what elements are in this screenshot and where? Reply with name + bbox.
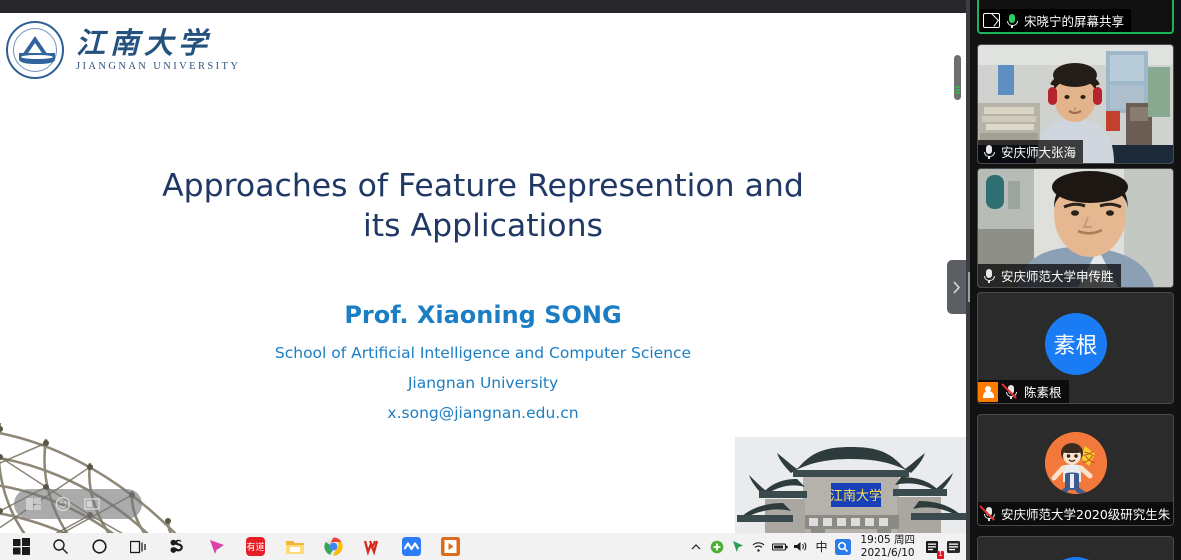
participant-name: 安庆师范大学申传胜: [1001, 266, 1114, 285]
svg-text:中: 中: [816, 539, 828, 554]
tray-green-shield-icon[interactable]: [706, 533, 727, 560]
tray-ime-chinese-icon[interactable]: 中: [811, 533, 832, 560]
taskbar-item-youdao-dict-icon[interactable]: 有道: [236, 533, 275, 560]
participant-tile-video-1[interactable]: 安庆师大张海: [977, 44, 1174, 164]
collapse-panel-chevron-icon[interactable]: [947, 260, 966, 314]
clock-date: 2021/6/10: [861, 547, 915, 560]
screen-root: 江南大学 JIANGNAN UNIVERSITY Approaches of F…: [0, 0, 1181, 560]
presenter-school: School of Artificial Intelligence and Co…: [120, 344, 846, 362]
tray-battery-icon[interactable]: [769, 533, 790, 560]
screen-share-icon: [983, 13, 1000, 28]
taskbar-item-sogou-s-icon[interactable]: [158, 533, 197, 560]
taskbar-item-file-explorer-icon[interactable]: [275, 533, 314, 560]
svg-text:有道: 有道: [246, 541, 264, 553]
tray-blue-search-icon[interactable]: [832, 533, 853, 560]
mic-unmuted-icon: [982, 144, 996, 160]
tray-pointer-icon[interactable]: [727, 533, 748, 560]
tray-chevron-up-icon[interactable]: [685, 533, 706, 560]
taskbar-item-pink-cursor-icon[interactable]: [197, 533, 236, 560]
presenter-university: Jiangnan University: [120, 374, 846, 392]
participant-tile-avatar-2[interactable]: 爻: [977, 414, 1174, 526]
mic-unmuted-icon: [1005, 13, 1019, 29]
participant-name: 宋晓宁的屏幕共享: [1024, 11, 1124, 30]
taskbar-item-tencent-meeting-icon[interactable]: [392, 533, 431, 560]
participant-tile-avatar-1[interactable]: 素根 陈素根: [977, 292, 1174, 404]
presentation-slide: 江南大学 JIANGNAN UNIVERSITY Approaches of F…: [0, 13, 966, 533]
tray-wifi-icon[interactable]: [748, 533, 769, 560]
participants-sidebar[interactable]: 宋晓宁的屏幕共享: [970, 0, 1181, 560]
participant-tile-avatar-3[interactable]: [977, 536, 1174, 560]
taskbar-item-search-icon[interactable]: [41, 533, 80, 560]
participant-name: 安庆师范大学2020级研究生朱: [1001, 504, 1170, 523]
university-logo: 江南大学 JIANGNAN UNIVERSITY: [6, 21, 240, 79]
avatar: [1045, 557, 1107, 560]
participant-name: 安庆师大张海: [1001, 142, 1076, 161]
mic-muted-icon: [982, 506, 996, 522]
annotate-icon[interactable]: [24, 495, 44, 513]
slide-title-line2: its Applications: [120, 206, 846, 246]
shared-screen-area: 江南大学 JIANGNAN UNIVERSITY Approaches of F…: [0, 0, 966, 560]
taskbar-item-cortana-circle-icon[interactable]: [80, 533, 119, 560]
svg-text:江南大学: 江南大学: [830, 488, 882, 504]
avatar-initials: 素根: [1053, 328, 1097, 360]
mic-muted-icon: [1004, 384, 1018, 400]
taskbar-item-powerpoint-icon[interactable]: [431, 533, 470, 560]
svg-text:爻: 爻: [1082, 451, 1095, 466]
avatar: 素根: [1045, 313, 1107, 375]
shared-screen-scrollbar-thumb[interactable]: [954, 55, 961, 100]
view-options-icon[interactable]: [82, 495, 102, 513]
taskbar-item-chrome-icon[interactable]: [314, 533, 353, 560]
mic-unmuted-icon: [982, 268, 996, 284]
meeting-float-toolbar[interactable]: [14, 489, 142, 519]
notification-badge-count: 1: [937, 551, 944, 559]
logo-chinese-name: 江南大学: [76, 28, 240, 58]
chinese-gate-graphic: 江南大学: [735, 437, 966, 533]
notes-icon[interactable]: [943, 533, 964, 560]
system-tray: 中 19:05 周四 2021/6/10 1: [685, 533, 966, 560]
action-center-icon[interactable]: 1: [922, 533, 943, 560]
shared-window-top-bar: [0, 0, 966, 13]
emoji-icon[interactable]: [53, 495, 73, 513]
taskbar-item-wps-icon[interactable]: [353, 533, 392, 560]
presenter-email: x.song@jiangnan.edu.cn: [120, 404, 846, 422]
participant-tile-screen-share[interactable]: 宋晓宁的屏幕共享: [977, 0, 1174, 34]
avatar: 爻: [1045, 432, 1107, 494]
slide-title-line1: Approaches of Feature Represention and: [120, 166, 846, 206]
participant-name: 陈素根: [1024, 382, 1062, 401]
participant-tile-video-2[interactable]: 安庆师范大学申传胜: [977, 168, 1174, 288]
slide-title: Approaches of Feature Represention and i…: [120, 166, 846, 247]
taskbar-item-windows-start[interactable]: [2, 533, 41, 560]
tray-speaker-icon[interactable]: [790, 533, 811, 560]
host-badge-icon: [978, 382, 998, 402]
taskbar-app-list: 有道: [0, 533, 470, 560]
windows-taskbar: 有道: [0, 533, 966, 560]
university-seal-icon: [6, 21, 64, 79]
clock-time: 19:05 周四: [860, 534, 915, 547]
taskbar-item-task-view-icon[interactable]: [119, 533, 158, 560]
taskbar-clock[interactable]: 19:05 周四 2021/6/10: [853, 534, 922, 560]
logo-english-name: JIANGNAN UNIVERSITY: [76, 61, 240, 72]
presenter-name: Prof. Xiaoning SONG: [120, 301, 846, 329]
